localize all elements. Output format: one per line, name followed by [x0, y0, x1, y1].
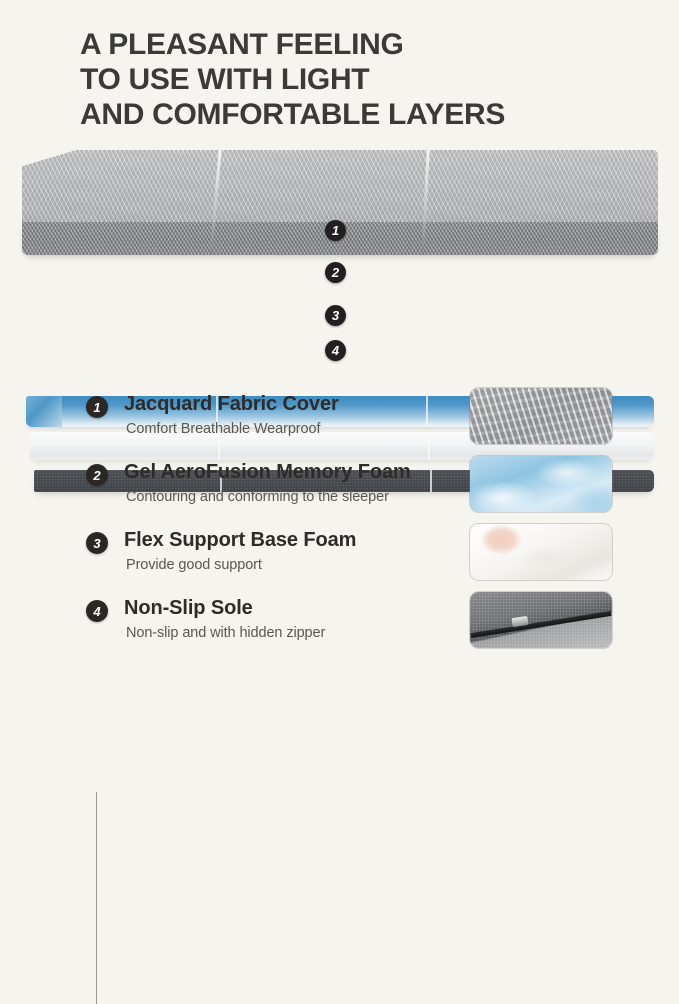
feature-badge-3: 3 [86, 532, 108, 554]
mattress-layer-diagram: 1 2 3 4 [0, 140, 679, 375]
feature-connector-line [96, 792, 97, 1004]
diagram-callout-4: 4 [325, 340, 346, 361]
headline-line-1: A PLEASANT FEELING [80, 27, 640, 62]
feature-title-1: Jacquard Fabric Cover [124, 393, 339, 416]
feature-thumbnail-column [470, 388, 615, 663]
thumbnail-non-slip-zipper [470, 592, 612, 648]
product-infographic: A PLEASANT FEELING TO USE WITH LIGHT AND… [0, 0, 679, 680]
headline-line-3: AND COMFORTABLE LAYERS [80, 97, 640, 132]
thumbnail-gel-foam [470, 456, 612, 512]
diagram-callout-2: 2 [325, 262, 346, 283]
feature-title-2: Gel AeroFusion Memory Foam [124, 461, 411, 484]
feature-subtitle-2: Contouring and conforming to the sleeper [126, 489, 389, 505]
headline-line-2: TO USE WITH LIGHT [80, 62, 640, 97]
feature-subtitle-1: Comfort Breathable Wearproof [126, 421, 320, 437]
feature-badge-2: 2 [86, 464, 108, 486]
feature-subtitle-4: Non-slip and with hidden zipper [126, 625, 325, 641]
feature-subtitle-3: Provide good support [126, 557, 262, 573]
thumbnail-jacquard-fabric [470, 388, 612, 444]
diagram-callout-1: 1 [325, 220, 346, 241]
cover-layer-top-face [22, 150, 658, 224]
feature-badge-1: 1 [86, 396, 108, 418]
thumbnail-base-foam-hand [470, 524, 612, 580]
feature-title-3: Flex Support Base Foam [124, 529, 356, 552]
feature-title-4: Non-Slip Sole [124, 597, 253, 620]
diagram-callout-3: 3 [325, 305, 346, 326]
feature-badge-4: 4 [86, 600, 108, 622]
zipper-track-icon [470, 611, 611, 638]
page-title: A PLEASANT FEELING TO USE WITH LIGHT AND… [80, 27, 640, 132]
